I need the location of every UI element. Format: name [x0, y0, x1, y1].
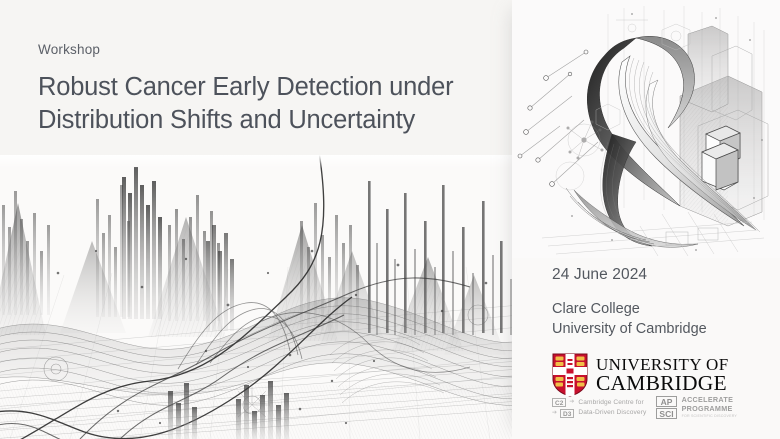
- cambridge-wordmark: UNIVERSITY OF CAMBRIDGE: [596, 356, 729, 395]
- awareness-ribbon-sketch: [512, 0, 780, 258]
- c2d3-label: Cambridge Centre for Data-Driven Discove…: [578, 398, 646, 417]
- arrow-up-right-icon: ➔: [569, 398, 574, 407]
- sci-box: SCI: [656, 408, 676, 419]
- ap-box: AP: [656, 396, 676, 407]
- right-panel: 24 June 2024 Clare College University of…: [512, 0, 780, 439]
- cambridge-coat-of-arms-icon: [552, 353, 588, 397]
- poster-root: Workshop Robust Cancer Early Detection u…: [0, 0, 780, 439]
- partner-logos: C2 ➔ ➔ D3 Cambridge Centre for Data-Driv…: [552, 396, 780, 419]
- c2d3-mark-row-top: C2 ➔: [552, 398, 574, 407]
- arrow-down-left-icon: ➔: [552, 409, 557, 418]
- page-title: Robust Cancer Early Detection under Dist…: [38, 71, 533, 136]
- eyebrow-label: Workshop: [38, 42, 533, 57]
- c2d3-marks: C2 ➔ ➔ D3: [552, 398, 574, 418]
- accelerate-label: ACCELERATE PROGRAMME FOR SCIENTIFIC DISC…: [682, 396, 737, 419]
- data-landscape-sketch: [0, 155, 520, 439]
- c2d3-logo: C2 ➔ ➔ D3 Cambridge Centre for Data-Driv…: [552, 398, 646, 418]
- c2d3-mark-row-bottom: ➔ D3: [552, 409, 574, 418]
- university-of-cambridge-logo: UNIVERSITY OF CAMBRIDGE: [552, 353, 778, 397]
- accelerate-programme-logo: AP SCI ACCELERATE PROGRAMME FOR SCIENTIF…: [656, 396, 737, 419]
- accelerate-line-2: PROGRAMME: [682, 405, 737, 414]
- c2-box: C2: [552, 398, 566, 407]
- apsci-marks: AP SCI: [656, 396, 676, 419]
- poster-header: Workshop Robust Cancer Early Detection u…: [38, 42, 533, 136]
- event-details: 24 June 2024 Clare College University of…: [552, 266, 778, 397]
- d3-box: D3: [560, 409, 574, 418]
- wordmark-line-2: CAMBRIDGE: [596, 373, 729, 395]
- event-date: 24 June 2024: [552, 266, 778, 284]
- accelerate-line-3: FOR SCIENTIFIC DISCOVERY: [682, 414, 737, 418]
- event-venue: Clare College University of Cambridge: [552, 300, 778, 339]
